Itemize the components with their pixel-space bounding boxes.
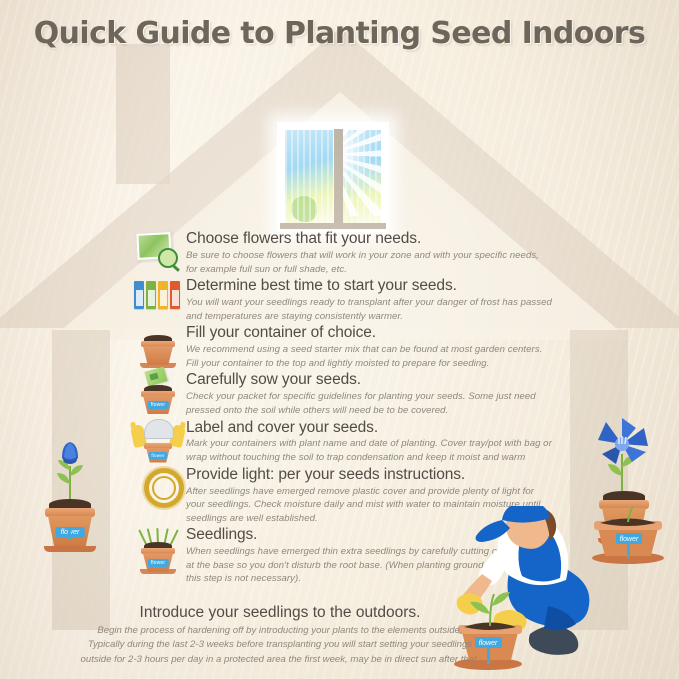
infographic-canvas: Quick Guide to Planting Seed Indoors flo… [0,0,679,679]
step-text: Determine best time to start your seeds.… [184,277,552,323]
plant-label-stem [69,528,72,540]
step-heading: Carefully sow your seeds. [186,371,552,390]
bud-flower-icon [38,426,102,504]
pot-saucer [44,546,96,552]
step-item: flower Carefully sow your seeds. Check y… [132,371,552,417]
step-body: You will want your seedlings ready to tr… [186,296,552,323]
step-item: Fill your container of choice. We recomm… [132,324,552,370]
gardener-figure-icon: flower [452,506,679,679]
seedlings-pot-icon: flower [132,524,184,574]
step-heading: Label and cover your seeds. [186,419,552,438]
outdoors-body: Begin the process of hardening off by in… [78,624,482,667]
pot-body: flower [143,395,173,414]
gloves-covering-pot-icon: flower [132,417,184,463]
svg-text:flower: flower [620,536,639,543]
pot-saucer [140,569,176,574]
open-flower-icon [588,414,658,494]
seed-packets-icon [132,275,184,321]
step-heading: Determine best time to start your seeds. [186,277,552,296]
filled-pot-icon [132,322,184,368]
plant-label-tag: flower [56,527,85,538]
step-text: Carefully sow your seeds. Check your pac… [184,371,552,417]
pot-body: flower [48,516,92,548]
gardener-illustration: flower [452,506,679,679]
step-body: Check your packet for specific guideline… [186,390,552,417]
magnifier-icon [158,248,178,268]
step-heading: Provide light: per your seeds instructio… [186,466,552,485]
seed-packet [158,281,168,309]
packet-group [134,281,180,311]
step-body: Be sure to choose flowers that will work… [186,249,552,276]
seed-packet [134,281,144,309]
plastic-cover [144,419,174,439]
plant-label-tag: flower [148,401,169,409]
seed-catalog-icon [132,228,184,274]
step-item: Choose flowers that fit your needs. Be s… [132,230,552,276]
step-body: We recommend using a seed starter mix th… [186,343,552,370]
step-item: flower Label and cover your seeds. Mark … [132,419,552,465]
pot-body: flower [146,448,170,463]
outdoors-heading: Introduce your seedlings to the outdoors… [78,604,482,622]
step-text: Label and cover your seeds. Mark your co… [184,419,552,465]
step-text: Fill your container of choice. We recomm… [184,324,552,370]
page-title: Quick Guide to Planting Seed Indoors [0,16,679,51]
outdoors-section: Introduce your seedlings to the outdoors… [78,604,482,667]
step-text: Choose flowers that fit your needs. Be s… [184,230,552,276]
sowing-seeds-icon: flower [132,369,184,415]
step-heading: Choose flowers that fit your needs. [186,230,552,249]
step-heading: Fill your container of choice. [186,324,552,343]
sun-light-icon [132,464,184,510]
sun-ring-glyph [144,468,184,508]
plant-label-tag: flower [148,559,169,567]
step-item: Determine best time to start your seeds.… [132,277,552,323]
seed-packet [170,281,180,309]
flower-pot-left: flower [38,432,102,552]
step-body: Mark your containers with plant name and… [186,437,552,464]
plant-label-tag: flower [148,452,167,459]
seed-packet [146,281,156,309]
pot-rim [45,508,95,517]
